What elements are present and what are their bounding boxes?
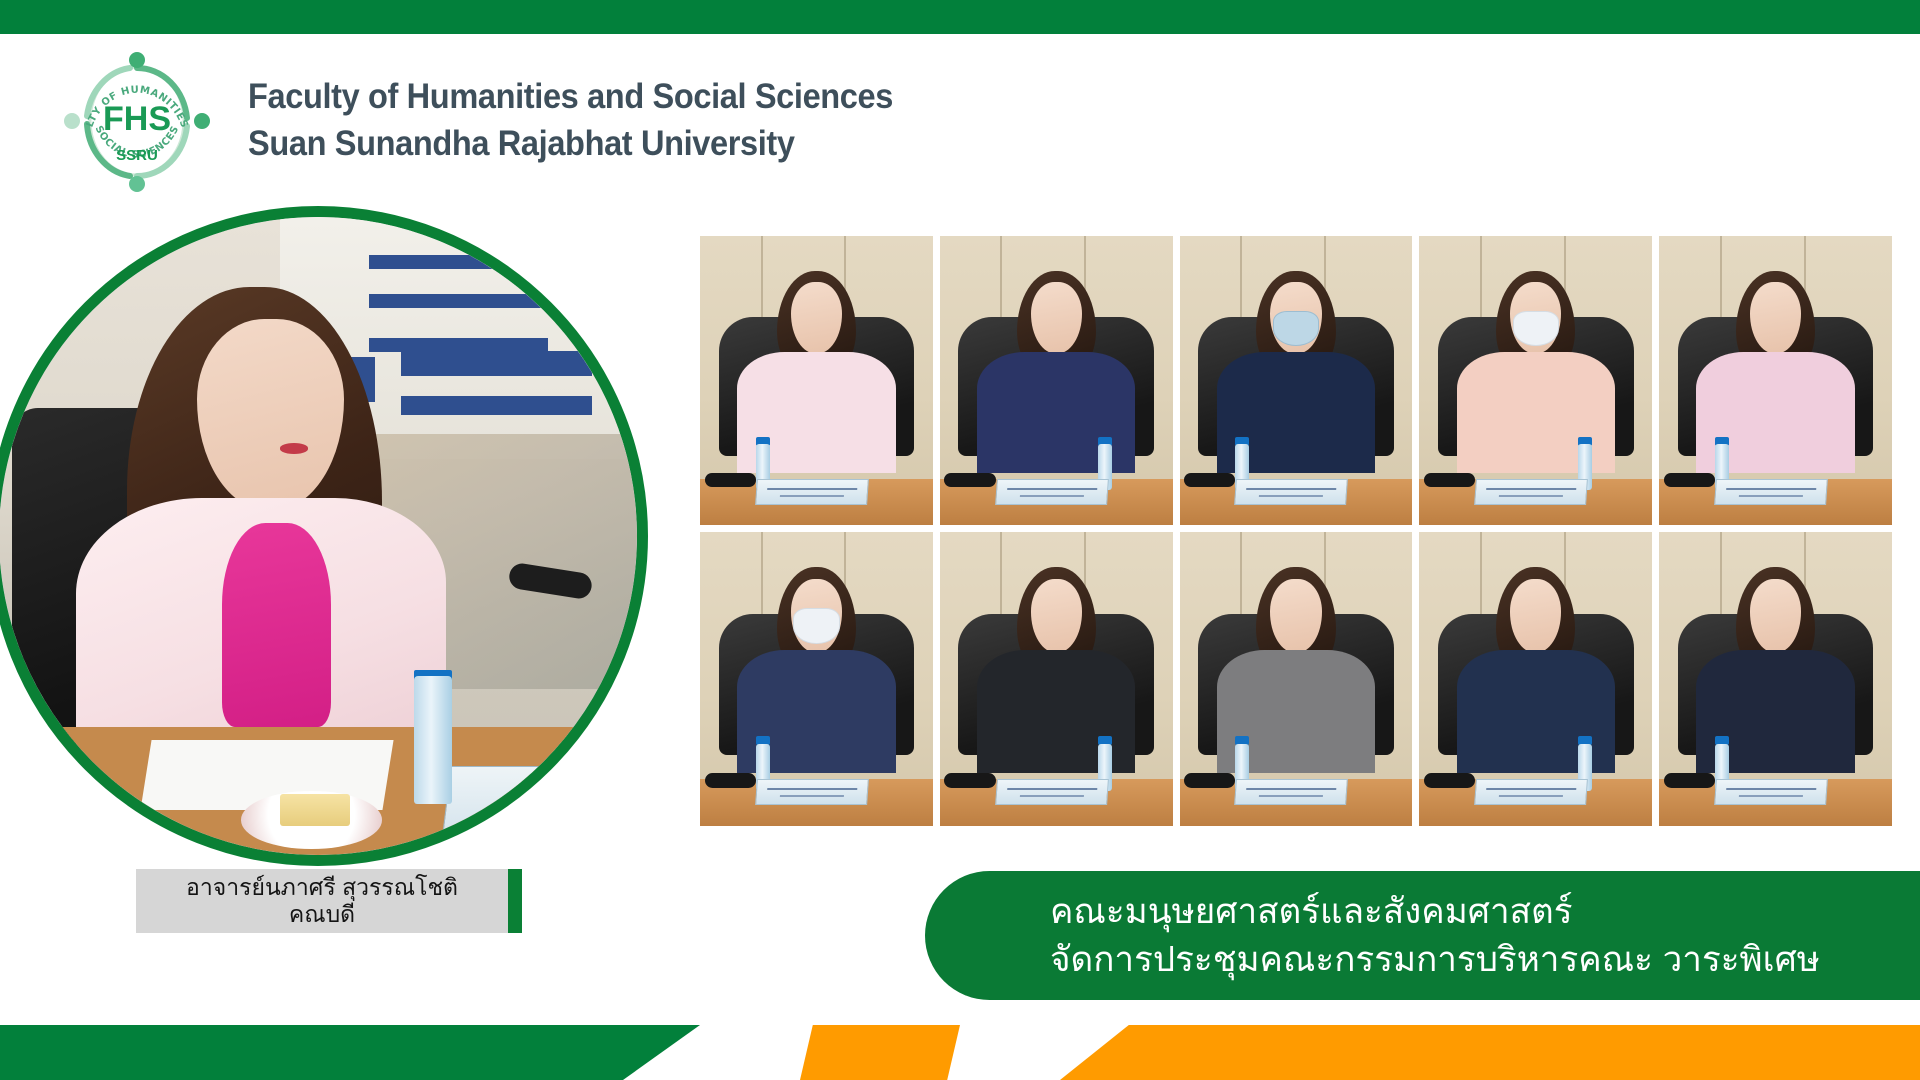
top-accent-bar [0, 0, 1920, 34]
gallery-photo [1659, 236, 1892, 525]
gallery-row-1 [700, 236, 1892, 525]
gallery-photo [700, 236, 933, 525]
dean-role: คณบดี [289, 901, 355, 928]
gallery-photo [940, 236, 1173, 525]
meeting-photo-gallery [700, 236, 1892, 826]
dean-name-plate: อาจารย์นภาศรี สุวรรณโชติ คณบดี [136, 869, 508, 933]
logo-monogram: FHS [103, 100, 171, 138]
dean-portrait-image [0, 217, 637, 855]
header-title-line2: Suan Sunandha Rajabhat University [248, 121, 1085, 168]
fhs-logo-mark: FACULTY OF HUMANITIES AND SOCIAL SCIENCE… [62, 46, 212, 196]
event-banner-line1: คณะมนุษยศาสตร์และสังคมศาสตร์ [1050, 888, 1920, 936]
footer-orange-block [1060, 1025, 1920, 1080]
gallery-photo [700, 532, 933, 826]
header-title-line1: Faculty of Humanities and Social Science… [248, 74, 1085, 121]
logo-abbrev: SSRU [116, 147, 158, 164]
event-banner: คณะมนุษยศาสตร์และสังคมศาสตร์ จัดการประชุ… [925, 871, 1920, 1000]
gallery-row-2 [700, 532, 1892, 826]
gallery-photo [1659, 532, 1892, 826]
dean-name-plate-accent [508, 869, 522, 933]
poster-canvas: FACULTY OF HUMANITIES AND SOCIAL SCIENCE… [0, 0, 1920, 1080]
fhs-logo: FACULTY OF HUMANITIES AND SOCIAL SCIENCE… [62, 46, 212, 196]
footer-green-block [0, 1025, 700, 1080]
dean-portrait-circle [0, 206, 648, 866]
gallery-photo [940, 532, 1173, 826]
gallery-photo [1180, 236, 1413, 525]
gallery-photo [1419, 532, 1652, 826]
gallery-photo [1419, 236, 1652, 525]
footer-orange-stripe [800, 1025, 960, 1080]
dean-name: อาจารย์นภาศรี สุวรรณโชติ [186, 874, 458, 901]
gallery-photo [1180, 532, 1413, 826]
header-title-block: Faculty of Humanities and Social Science… [248, 74, 1148, 167]
event-banner-line2: จัดการประชุมคณะกรรมการบริหารคณะ วาระพิเศ… [1050, 936, 1920, 984]
footer-accent-bar [0, 1025, 1920, 1080]
